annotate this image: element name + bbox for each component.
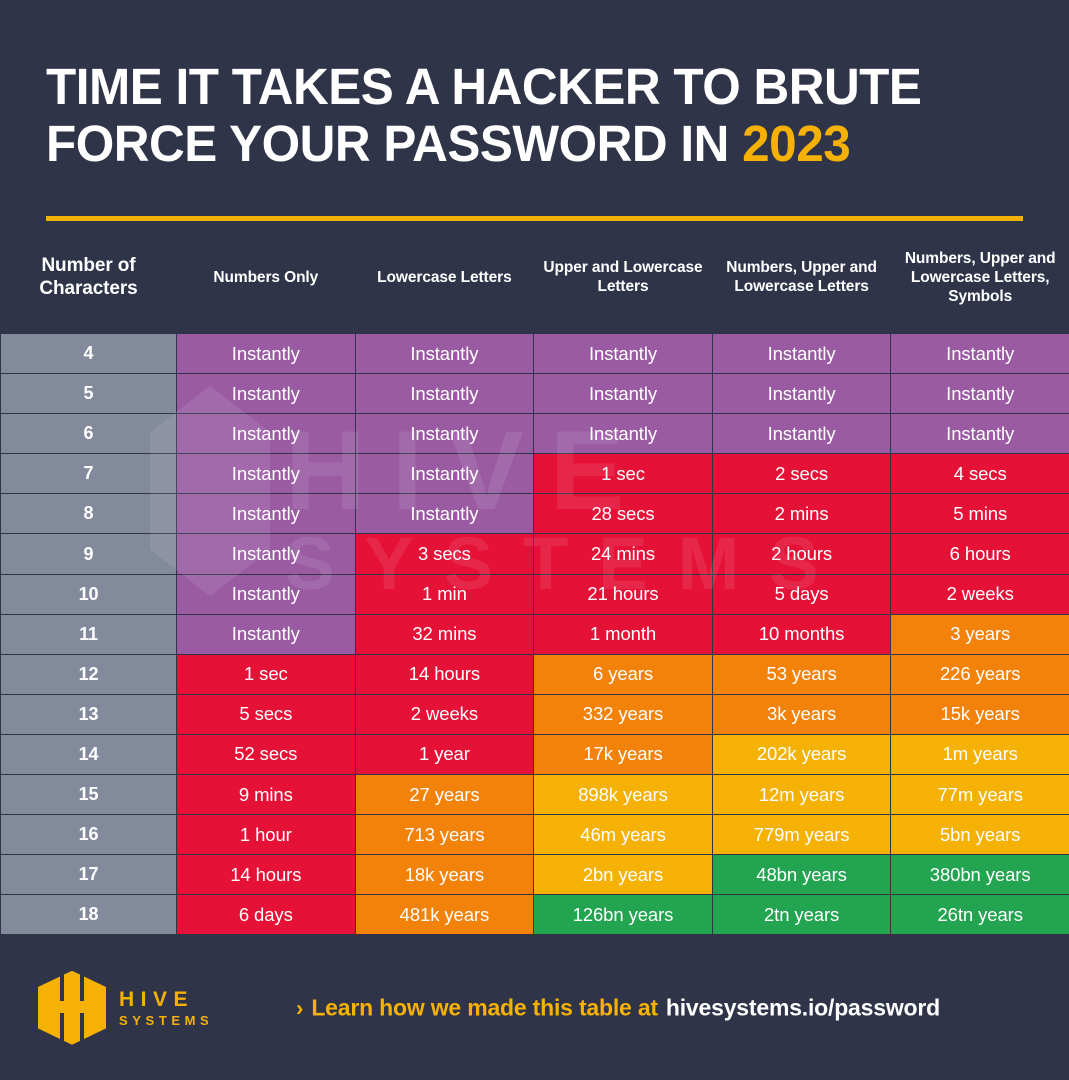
crack-time-cell: Instantly [177,534,356,574]
cta-label: Learn how we made this table at [311,994,658,1021]
table-row: 5InstantlyInstantlyInstantlyInstantlyIns… [1,374,1069,414]
hex-crossbar [60,1001,84,1013]
col-header-numbers-upper-lowercase: Numbers, Upper and Lowercase Letters [712,221,891,334]
crack-time-cell: Instantly [177,454,356,494]
title-year: 2023 [742,115,850,172]
password-table-wrapper: HIVE SYSTEMS Number of Characters Number… [0,221,1069,935]
infographic-page: TIME IT TAKES A HACKER TO BRUTE FORCE YO… [0,0,1069,1080]
crack-time-cell: 3 secs [355,534,534,574]
col-header-upper-lowercase: Upper and Lowercase Letters [534,221,713,334]
crack-time-cell: 27 years [355,775,534,815]
col-header-numbers-upper-lowercase-symbols: Numbers, Upper and Lowercase Letters, Sy… [891,221,1069,334]
table-row: 121 sec14 hours6 years53 years226 years [1,654,1069,694]
page-title: TIME IT TAKES A HACKER TO BRUTE FORCE YO… [46,58,994,172]
crack-time-cell: 52 secs [177,734,356,774]
table-row: 1452 secs1 year17k years202k years1m yea… [1,734,1069,774]
crack-time-cell: Instantly [177,494,356,534]
table-row: 135 secs2 weeks332 years3k years15k year… [1,694,1069,734]
table-row: 8InstantlyInstantly28 secs2 mins5 mins [1,494,1069,534]
crack-time-cell: Instantly [891,414,1069,454]
table-row: 11Instantly32 mins1 month10 months3 year… [1,614,1069,654]
logo-systems-text: SYSTEMS [119,1014,213,1027]
crack-time-cell: Instantly [355,334,534,374]
crack-time-cell: 21 hours [534,574,713,614]
crack-time-cell: 48bn years [712,855,891,895]
crack-time-cell: 77m years [891,775,1069,815]
crack-time-cell: 6 years [534,654,713,694]
crack-time-cell: 2 weeks [355,694,534,734]
crack-time-cell: Instantly [891,374,1069,414]
crack-time-cell: 332 years [534,694,713,734]
crack-time-cell: 3k years [712,694,891,734]
col-header-number-of-characters: Number of Characters [1,221,177,334]
row-label-character-count: 14 [1,734,177,774]
table-row: 6InstantlyInstantlyInstantlyInstantlyIns… [1,414,1069,454]
crack-time-cell: Instantly [712,334,891,374]
password-crack-time-table: Number of Characters Numbers Only Lowerc… [0,221,1069,935]
row-label-character-count: 6 [1,414,177,454]
crack-time-cell: 2 secs [712,454,891,494]
footer: HIVE SYSTEMS › Learn how we made this ta… [0,935,1069,1080]
crack-time-cell: 226 years [891,654,1069,694]
logo-wordmark: HIVE SYSTEMS [119,989,213,1027]
crack-time-cell: Instantly [355,454,534,494]
table-header-row: Number of Characters Numbers Only Lowerc… [1,221,1069,334]
crack-time-cell: 481k years [355,895,534,935]
crack-time-cell: 24 mins [534,534,713,574]
crack-time-cell: Instantly [177,414,356,454]
row-label-character-count: 5 [1,374,177,414]
table-body: 4InstantlyInstantlyInstantlyInstantlyIns… [1,334,1069,935]
crack-time-cell: 1 year [355,734,534,774]
learn-more-link[interactable]: › Learn how we made this table at hivesy… [296,994,940,1021]
crack-time-cell: 2 mins [712,494,891,534]
title-line-1: TIME IT TAKES A HACKER TO BRUTE [46,58,994,115]
crack-time-cell: 4 secs [891,454,1069,494]
crack-time-cell: 18k years [355,855,534,895]
crack-time-cell: 126bn years [534,895,713,935]
table-head: Number of Characters Numbers Only Lowerc… [1,221,1069,334]
cta-url: hivesystems.io/password [666,994,940,1021]
hive-hex-h-icon [38,971,106,1045]
crack-time-cell: 12m years [712,775,891,815]
crack-time-cell: 202k years [712,734,891,774]
row-label-character-count: 17 [1,855,177,895]
row-label-character-count: 13 [1,694,177,734]
crack-time-cell: 6 hours [891,534,1069,574]
crack-time-cell: 380bn years [891,855,1069,895]
crack-time-cell: 1 sec [177,654,356,694]
title-line-2-prefix: FORCE YOUR PASSWORD IN [46,115,729,172]
crack-time-cell: Instantly [177,334,356,374]
crack-time-cell: 6 days [177,895,356,935]
crack-time-cell: Instantly [355,414,534,454]
crack-time-cell: 713 years [355,815,534,855]
crack-time-cell: Instantly [534,414,713,454]
crack-time-cell: 779m years [712,815,891,855]
crack-time-cell: Instantly [534,334,713,374]
crack-time-cell: Instantly [534,374,713,414]
crack-time-cell: Instantly [712,374,891,414]
crack-time-cell: Instantly [355,494,534,534]
table-row: 4InstantlyInstantlyInstantlyInstantlyIns… [1,334,1069,374]
table-row: 186 days481k years126bn years2tn years26… [1,895,1069,935]
crack-time-cell: 898k years [534,775,713,815]
crack-time-cell: 3 years [891,614,1069,654]
table-row: 161 hour713 years46m years779m years5bn … [1,815,1069,855]
crack-time-cell: 5bn years [891,815,1069,855]
crack-time-cell: 46m years [534,815,713,855]
row-label-character-count: 16 [1,815,177,855]
crack-time-cell: Instantly [177,374,356,414]
crack-time-cell: 2 hours [712,534,891,574]
crack-time-cell: 1 hour [177,815,356,855]
col-header-lowercase-letters: Lowercase Letters [355,221,534,334]
row-label-character-count: 12 [1,654,177,694]
crack-time-cell: 28 secs [534,494,713,534]
table-row: 159 mins27 years898k years12m years77m y… [1,775,1069,815]
crack-time-cell: Instantly [177,574,356,614]
crack-time-cell: Instantly [891,334,1069,374]
crack-time-cell: 26tn years [891,895,1069,935]
crack-time-cell: 1m years [891,734,1069,774]
crack-time-cell: 14 hours [177,855,356,895]
row-label-character-count: 10 [1,574,177,614]
col-header-numbers-only: Numbers Only [177,221,356,334]
crack-time-cell: 5 secs [177,694,356,734]
crack-time-cell: Instantly [712,414,891,454]
crack-time-cell: 10 months [712,614,891,654]
crack-time-cell: 14 hours [355,654,534,694]
crack-time-cell: 53 years [712,654,891,694]
chevron-right-icon: › [296,997,303,1019]
row-label-character-count: 7 [1,454,177,494]
row-label-character-count: 11 [1,614,177,654]
crack-time-cell: 2tn years [712,895,891,935]
crack-time-cell: 5 days [712,574,891,614]
crack-time-cell: 2 weeks [891,574,1069,614]
crack-time-cell: Instantly [355,374,534,414]
crack-time-cell: 5 mins [891,494,1069,534]
table-row: 10Instantly1 min21 hours5 days2 weeks [1,574,1069,614]
title-line-2: FORCE YOUR PASSWORD IN 2023 [46,115,994,172]
crack-time-cell: 1 min [355,574,534,614]
crack-time-cell: 17k years [534,734,713,774]
row-label-character-count: 8 [1,494,177,534]
crack-time-cell: Instantly [177,614,356,654]
header: TIME IT TAKES A HACKER TO BRUTE FORCE YO… [0,0,1069,221]
hive-systems-logo: HIVE SYSTEMS [38,971,213,1045]
row-label-character-count: 4 [1,334,177,374]
row-label-character-count: 15 [1,775,177,815]
logo-hive-text: HIVE [119,989,213,1010]
crack-time-cell: 15k years [891,694,1069,734]
crack-time-cell: 32 mins [355,614,534,654]
crack-time-cell: 9 mins [177,775,356,815]
row-label-character-count: 9 [1,534,177,574]
crack-time-cell: 1 month [534,614,713,654]
crack-time-cell: 2bn years [534,855,713,895]
row-label-character-count: 18 [1,895,177,935]
table-row: 9Instantly3 secs24 mins2 hours6 hours [1,534,1069,574]
table-row: 7InstantlyInstantly1 sec2 secs4 secs [1,454,1069,494]
crack-time-cell: 1 sec [534,454,713,494]
table-row: 1714 hours18k years2bn years48bn years38… [1,855,1069,895]
